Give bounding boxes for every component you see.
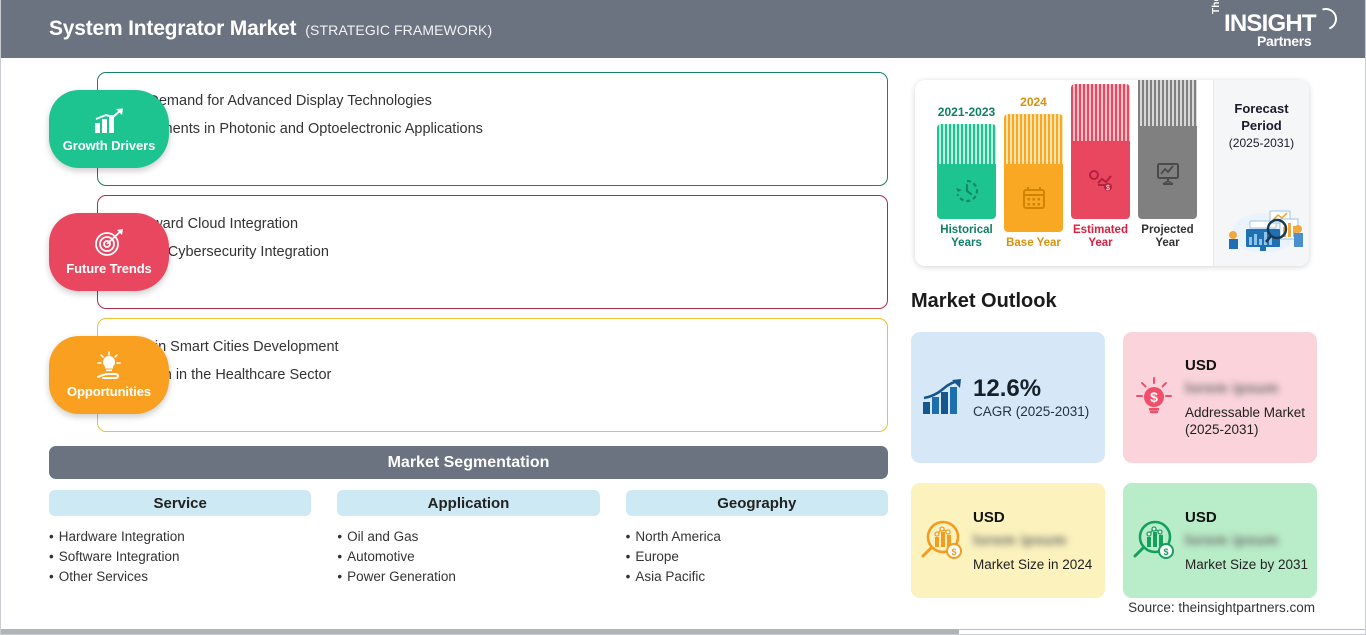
list-item: •Europe	[626, 547, 888, 567]
cagr-value: 12.6%	[973, 376, 1099, 402]
clock-history-icon	[954, 178, 980, 204]
segment-header: Application	[337, 490, 599, 516]
list-item: •Other Services	[49, 567, 311, 587]
market-segmentation-header: Market Segmentation	[49, 446, 888, 479]
currency-label: USD	[973, 509, 1099, 526]
badge-label: Opportunities	[67, 384, 151, 399]
bar-caption: Estimated Year	[1071, 224, 1130, 250]
segment-item-text: Other Services	[59, 569, 148, 584]
page-subtitle: (STRATEGIC FRAMEWORK)	[305, 22, 492, 38]
forecast-period-panel: 2021-2023 Historical Years	[915, 80, 1309, 266]
bar-solid-body: $	[1071, 141, 1130, 219]
lightbulb-dollar-icon: $	[1123, 375, 1185, 421]
list-item: •Power Generation	[337, 567, 599, 587]
outlook-card-market-size-2024[interactable]: $ USD lorem ipsum Market Size in 2024	[911, 483, 1105, 598]
redacted-value: lorem ipsum	[1185, 380, 1311, 397]
logo-the-text: The	[1211, 0, 1222, 14]
magnifier-bar-chart-dollar-icon: $	[911, 518, 973, 564]
magnifier-bar-chart-dollar-icon: $	[1123, 518, 1185, 564]
currency-label: USD	[1185, 509, 1311, 526]
segment-header: Geography	[626, 490, 888, 516]
segment-item-text: Software Integration	[59, 549, 180, 564]
row-future-trends: Future Trends •Shift Toward Cloud Integr…	[1, 195, 901, 309]
market-segmentation-title: Market Segmentation	[388, 454, 550, 472]
segment-title: Service	[153, 495, 206, 512]
list-item: •North America	[626, 527, 888, 547]
card-label: Addressable Market (2025-2031)	[1185, 404, 1311, 438]
svg-text:$: $	[1163, 547, 1168, 557]
outlook-card-addressable-market[interactable]: $ USD lorem ipsum Addressable Market (20…	[1123, 332, 1317, 463]
infographic-page: System Integrator Market (STRATEGIC FRAM…	[0, 0, 1366, 635]
row-opportunities: Opportunities •Growth in Smart Cities De…	[1, 318, 901, 432]
badge-label: Future Trends	[66, 261, 151, 276]
forecast-bar-historical: 2021-2023 Historical Years	[937, 124, 996, 250]
segment-item-text: Power Generation	[347, 569, 456, 584]
outlook-card-market-size-2031[interactable]: $ USD lorem ipsum Market Size by 2031	[1123, 483, 1317, 598]
logo-partners-text: Partners	[1257, 33, 1311, 49]
svg-text:$: $	[1150, 389, 1158, 405]
lightbulb-in-hand-icon	[92, 351, 126, 381]
forecast-title: Forecast Period	[1214, 100, 1309, 134]
bar-caption: Base Year	[1004, 237, 1063, 250]
forecast-bar-projected: 2031 Projected Year	[1138, 80, 1197, 250]
badge-opportunities[interactable]: Opportunities	[49, 336, 169, 414]
list-item: •Automotive	[337, 547, 599, 567]
bar-chart-arrow-icon	[911, 378, 973, 418]
segment-item-text: Europe	[635, 549, 679, 564]
page-header: System Integrator Market (STRATEGIC FRAM…	[1, 0, 1366, 58]
bar-solid-body	[1138, 126, 1197, 219]
target-dart-icon	[93, 228, 125, 258]
bar-stripe-top	[1004, 114, 1063, 164]
bar-year-label: 2024	[1020, 95, 1047, 109]
bar-caption: Projected Year	[1138, 224, 1197, 250]
header-title-group: System Integrator Market (STRATEGIC FRAM…	[49, 17, 492, 41]
analytics-dashboard-illustration	[1220, 193, 1304, 260]
segment-column-service: Service •Hardware Integration •Software …	[49, 490, 311, 587]
market-outlook-title: Market Outlook	[911, 290, 1057, 313]
segment-item-text: Hardware Integration	[59, 529, 185, 544]
segment-item-text: Oil and Gas	[347, 529, 418, 544]
segment-item-text: Asia Pacific	[635, 569, 705, 584]
forecast-period-side: Forecast Period (2025-2031)	[1213, 80, 1309, 266]
forecast-title-line1: Forecast	[1234, 101, 1288, 116]
badge-future-trends[interactable]: Future Trends	[49, 213, 169, 291]
card-body: 12.6% CAGR (2025-2031)	[973, 376, 1105, 419]
cagr-label: CAGR (2025-2031)	[973, 404, 1099, 419]
segment-item-text: Automotive	[347, 549, 415, 564]
insight-partners-logo: The INSIGHT Partners	[1211, 8, 1339, 52]
horizontal-scrollbar[interactable]	[1, 629, 1366, 634]
segment-header: Service	[49, 490, 311, 516]
svg-text:$: $	[1106, 185, 1110, 192]
bar-stripe-top	[937, 124, 996, 164]
list-item: •Hardware Integration	[49, 527, 311, 547]
bar-chart-arrow-up-icon	[92, 105, 126, 135]
segment-column-application: Application •Oil and Gas •Automotive •Po…	[337, 490, 599, 587]
segment-title: Application	[428, 495, 510, 512]
scrollbar-thumb[interactable]	[1, 629, 959, 634]
list-item: •Software Integration	[49, 547, 311, 567]
segment-column-geography: Geography •North America •Europe •Asia P…	[626, 490, 888, 587]
bar-caption: Historical Years	[937, 224, 996, 250]
page-title: System Integrator Market	[49, 17, 296, 41]
currency-label: USD	[1185, 357, 1311, 374]
bar-solid-body	[1004, 164, 1063, 232]
segment-title: Geography	[717, 495, 796, 512]
forecast-bar-chart: 2021-2023 Historical Years	[931, 80, 1151, 266]
source-attribution: Source: theinsightpartners.com	[1128, 600, 1315, 615]
card-body: USD lorem ipsum Market Size in 2024	[973, 509, 1105, 573]
bar-solid-body	[937, 164, 996, 219]
forecast-bar-base: 2024	[1004, 114, 1063, 250]
list-item: •Oil and Gas	[337, 527, 599, 547]
redacted-value: lorem ipsum	[973, 532, 1099, 549]
market-segmentation-columns: Service •Hardware Integration •Software …	[49, 490, 888, 587]
bar-year-label: 2021-2023	[938, 105, 995, 119]
card-label: Market Size by 2031	[1185, 556, 1311, 573]
badge-growth-drivers[interactable]: Growth Drivers	[49, 90, 169, 168]
bar-stripe-top	[1071, 84, 1130, 141]
card-label: Market Size in 2024	[973, 556, 1099, 573]
forecast-title-line2: Period	[1241, 118, 1281, 133]
card-body: USD lorem ipsum Market Size by 2031	[1185, 509, 1317, 573]
redacted-value: lorem ipsum	[1185, 532, 1311, 549]
chart-gear-icon: $	[1087, 167, 1115, 193]
row-growth-drivers: Growth Drivers •Rising Demand for Advanc…	[1, 72, 901, 186]
card-body: USD lorem ipsum Addressable Market (2025…	[1185, 357, 1317, 438]
calendar-icon	[1021, 185, 1047, 211]
bar-stripe-top	[1138, 80, 1197, 126]
presentation-screen-icon	[1154, 160, 1182, 186]
list-item: •Asia Pacific	[626, 567, 888, 587]
badge-label: Growth Drivers	[63, 138, 156, 153]
outlook-card-cagr[interactable]: 12.6% CAGR (2025-2031)	[911, 332, 1105, 463]
forecast-range: (2025-2031)	[1214, 136, 1309, 150]
segment-item-text: North America	[635, 529, 721, 544]
svg-text:$: $	[951, 547, 956, 557]
forecast-bar-estimated: 2025 $ Estimated Year	[1071, 84, 1130, 250]
